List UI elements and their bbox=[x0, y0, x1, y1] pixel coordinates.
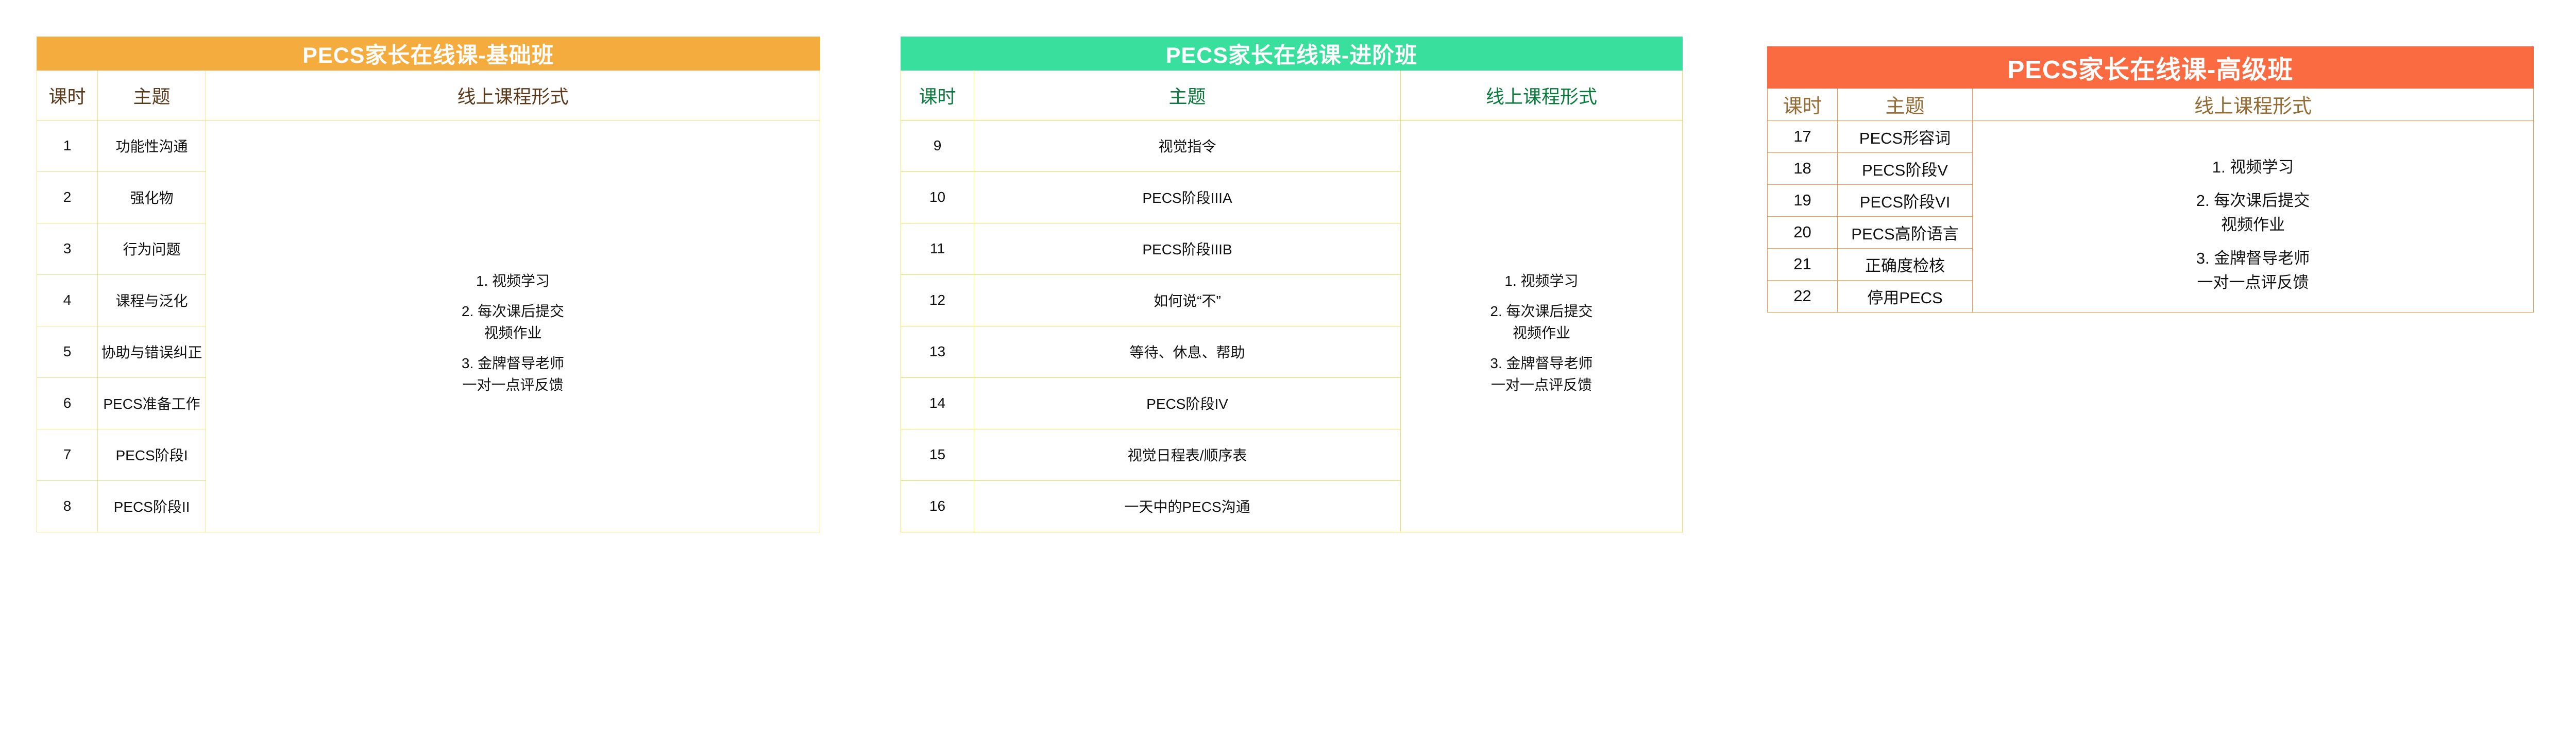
lesson-topic: 功能性沟通 bbox=[98, 120, 206, 171]
lesson-topic: 行为问题 bbox=[98, 223, 206, 274]
lesson-number: 17 bbox=[1768, 120, 1838, 152]
column-header-format: 线上课程形式 bbox=[1401, 71, 1683, 120]
online-format-cell: 1. 视频学习 2. 每次课后提交 视频作业 3. 金牌督导老师 一对一点评反馈 bbox=[1973, 120, 2534, 312]
lesson-topic: PECS阶段I bbox=[98, 429, 206, 480]
lesson-topic: PECS形容词 bbox=[1838, 120, 1973, 152]
format-line-2: 2. 每次课后提交 bbox=[1412, 301, 1671, 322]
format-line-2: 2. 每次课后提交 bbox=[217, 301, 808, 322]
lesson-topic: 正确度检核 bbox=[1838, 248, 1973, 280]
lesson-topic: 如何说“不” bbox=[974, 274, 1401, 326]
lesson-number: 7 bbox=[37, 429, 98, 480]
lesson-topic: PECS准备工作 bbox=[98, 377, 206, 429]
format-spacer bbox=[217, 292, 808, 301]
lesson-number: 15 bbox=[901, 429, 974, 480]
format-line-1: 1. 视频学习 bbox=[1412, 270, 1671, 292]
course-table-advanced-grid: 课时 主题 线上课程形式 17 PECS形容词 1. 视频学习 2. 每次课后提… bbox=[1767, 89, 2534, 313]
format-line-4: 3. 金牌督导老师 bbox=[1986, 247, 2520, 271]
table-row: 17 PECS形容词 1. 视频学习 2. 每次课后提交 视频作业 3. 金牌督… bbox=[1768, 120, 2534, 152]
lesson-topic: 一天中的PECS沟通 bbox=[974, 480, 1401, 532]
format-spacer bbox=[1412, 344, 1671, 353]
column-header-row: 课时 主题 线上课程形式 bbox=[1768, 89, 2534, 120]
lesson-topic: 视觉指令 bbox=[974, 120, 1401, 171]
lesson-number: 12 bbox=[901, 274, 974, 326]
lesson-number: 20 bbox=[1768, 216, 1838, 248]
lesson-number: 16 bbox=[901, 480, 974, 532]
lesson-number: 9 bbox=[901, 120, 974, 171]
lesson-number: 14 bbox=[901, 377, 974, 429]
format-spacer bbox=[1412, 292, 1671, 301]
lesson-number: 10 bbox=[901, 171, 974, 223]
lesson-topic: PECS阶段VI bbox=[1838, 184, 1973, 216]
lesson-topic: PECS阶段IIIB bbox=[974, 223, 1401, 274]
course-table-basic-title: PECS家长在线课-基础班 bbox=[37, 37, 820, 71]
course-table-intermediate: PECS家长在线课-进阶班 课时 主题 线上课程形式 9 视觉指令 1. 视频学… bbox=[901, 37, 1683, 532]
lesson-topic: PECS阶段II bbox=[98, 480, 206, 532]
column-header-topic: 主题 bbox=[974, 71, 1401, 120]
format-line-4: 3. 金牌督导老师 bbox=[217, 353, 808, 374]
format-line-1: 1. 视频学习 bbox=[1986, 155, 2520, 180]
format-spacer bbox=[1986, 179, 2520, 189]
format-line-2: 2. 每次课后提交 bbox=[1986, 189, 2520, 213]
lesson-number: 2 bbox=[37, 171, 98, 223]
lesson-number: 11 bbox=[901, 223, 974, 274]
format-line-1: 1. 视频学习 bbox=[217, 270, 808, 292]
format-line-5: 一对一点评反馈 bbox=[1986, 271, 2520, 295]
online-format-cell: 1. 视频学习 2. 每次课后提交 视频作业 3. 金牌督导老师 一对一点评反馈 bbox=[206, 120, 820, 532]
course-table-intermediate-title: PECS家长在线课-进阶班 bbox=[901, 37, 1683, 71]
lesson-topic: PECS阶段IV bbox=[974, 377, 1401, 429]
lesson-number: 3 bbox=[37, 223, 98, 274]
column-header-topic: 主题 bbox=[1838, 89, 1973, 120]
lesson-number: 19 bbox=[1768, 184, 1838, 216]
lesson-number: 22 bbox=[1768, 280, 1838, 312]
format-line-3: 视频作业 bbox=[1986, 213, 2520, 237]
lesson-number: 5 bbox=[37, 326, 98, 377]
lesson-number: 13 bbox=[901, 326, 974, 377]
lesson-number: 21 bbox=[1768, 248, 1838, 280]
course-table-basic-grid: 课时 主题 线上课程形式 1 功能性沟通 1. 视频学习 2. 每次课后提交 视… bbox=[37, 71, 820, 532]
column-header-lesson: 课时 bbox=[1768, 89, 1838, 120]
lesson-topic: 课程与泛化 bbox=[98, 274, 206, 326]
lesson-number: 8 bbox=[37, 480, 98, 532]
lesson-topic: PECS高阶语言 bbox=[1838, 216, 1973, 248]
lesson-topic: 等待、休息、帮助 bbox=[974, 326, 1401, 377]
lesson-topic: 强化物 bbox=[98, 171, 206, 223]
lesson-topic: 停用PECS bbox=[1838, 280, 1973, 312]
column-header-lesson: 课时 bbox=[901, 71, 974, 120]
lesson-number: 18 bbox=[1768, 152, 1838, 184]
column-header-lesson: 课时 bbox=[37, 71, 98, 120]
course-table-advanced: PECS家长在线课-高级班 课时 主题 线上课程形式 17 PECS形容词 1.… bbox=[1767, 46, 2534, 313]
table-row: 9 视觉指令 1. 视频学习 2. 每次课后提交 视频作业 3. 金牌督导老师 … bbox=[901, 120, 1683, 171]
column-header-row: 课时 主题 线上课程形式 bbox=[37, 71, 820, 120]
course-table-advanced-title: PECS家长在线课-高级班 bbox=[1767, 46, 2534, 89]
lesson-topic: 视觉日程表/顺序表 bbox=[974, 429, 1401, 480]
column-header-row: 课时 主题 线上课程形式 bbox=[901, 71, 1683, 120]
column-header-topic: 主题 bbox=[98, 71, 206, 120]
lesson-number: 1 bbox=[37, 120, 98, 171]
lesson-topic: 协助与错误纠正 bbox=[98, 326, 206, 377]
lesson-topic: PECS阶段V bbox=[1838, 152, 1973, 184]
course-table-intermediate-grid: 课时 主题 线上课程形式 9 视觉指令 1. 视频学习 2. 每次课后提交 视频… bbox=[901, 71, 1683, 532]
format-line-4: 3. 金牌督导老师 bbox=[1412, 353, 1671, 374]
course-table-basic: PECS家长在线课-基础班 课时 主题 线上课程形式 1 功能性沟通 1. 视频… bbox=[37, 37, 820, 532]
column-header-format: 线上课程形式 bbox=[1973, 89, 2534, 120]
course-tables-board: PECS家长在线课-基础班 课时 主题 线上课程形式 1 功能性沟通 1. 视频… bbox=[0, 0, 2576, 744]
lesson-topic: PECS阶段IIIA bbox=[974, 171, 1401, 223]
format-spacer bbox=[1986, 237, 2520, 247]
lesson-number: 4 bbox=[37, 274, 98, 326]
format-line-5: 一对一点评反馈 bbox=[217, 374, 808, 396]
format-spacer bbox=[217, 344, 808, 353]
format-line-5: 一对一点评反馈 bbox=[1412, 374, 1671, 396]
column-header-format: 线上课程形式 bbox=[206, 71, 820, 120]
online-format-cell: 1. 视频学习 2. 每次课后提交 视频作业 3. 金牌督导老师 一对一点评反馈 bbox=[1401, 120, 1683, 532]
format-line-3: 视频作业 bbox=[1412, 322, 1671, 344]
format-line-3: 视频作业 bbox=[217, 322, 808, 344]
table-row: 1 功能性沟通 1. 视频学习 2. 每次课后提交 视频作业 3. 金牌督导老师… bbox=[37, 120, 820, 171]
lesson-number: 6 bbox=[37, 377, 98, 429]
